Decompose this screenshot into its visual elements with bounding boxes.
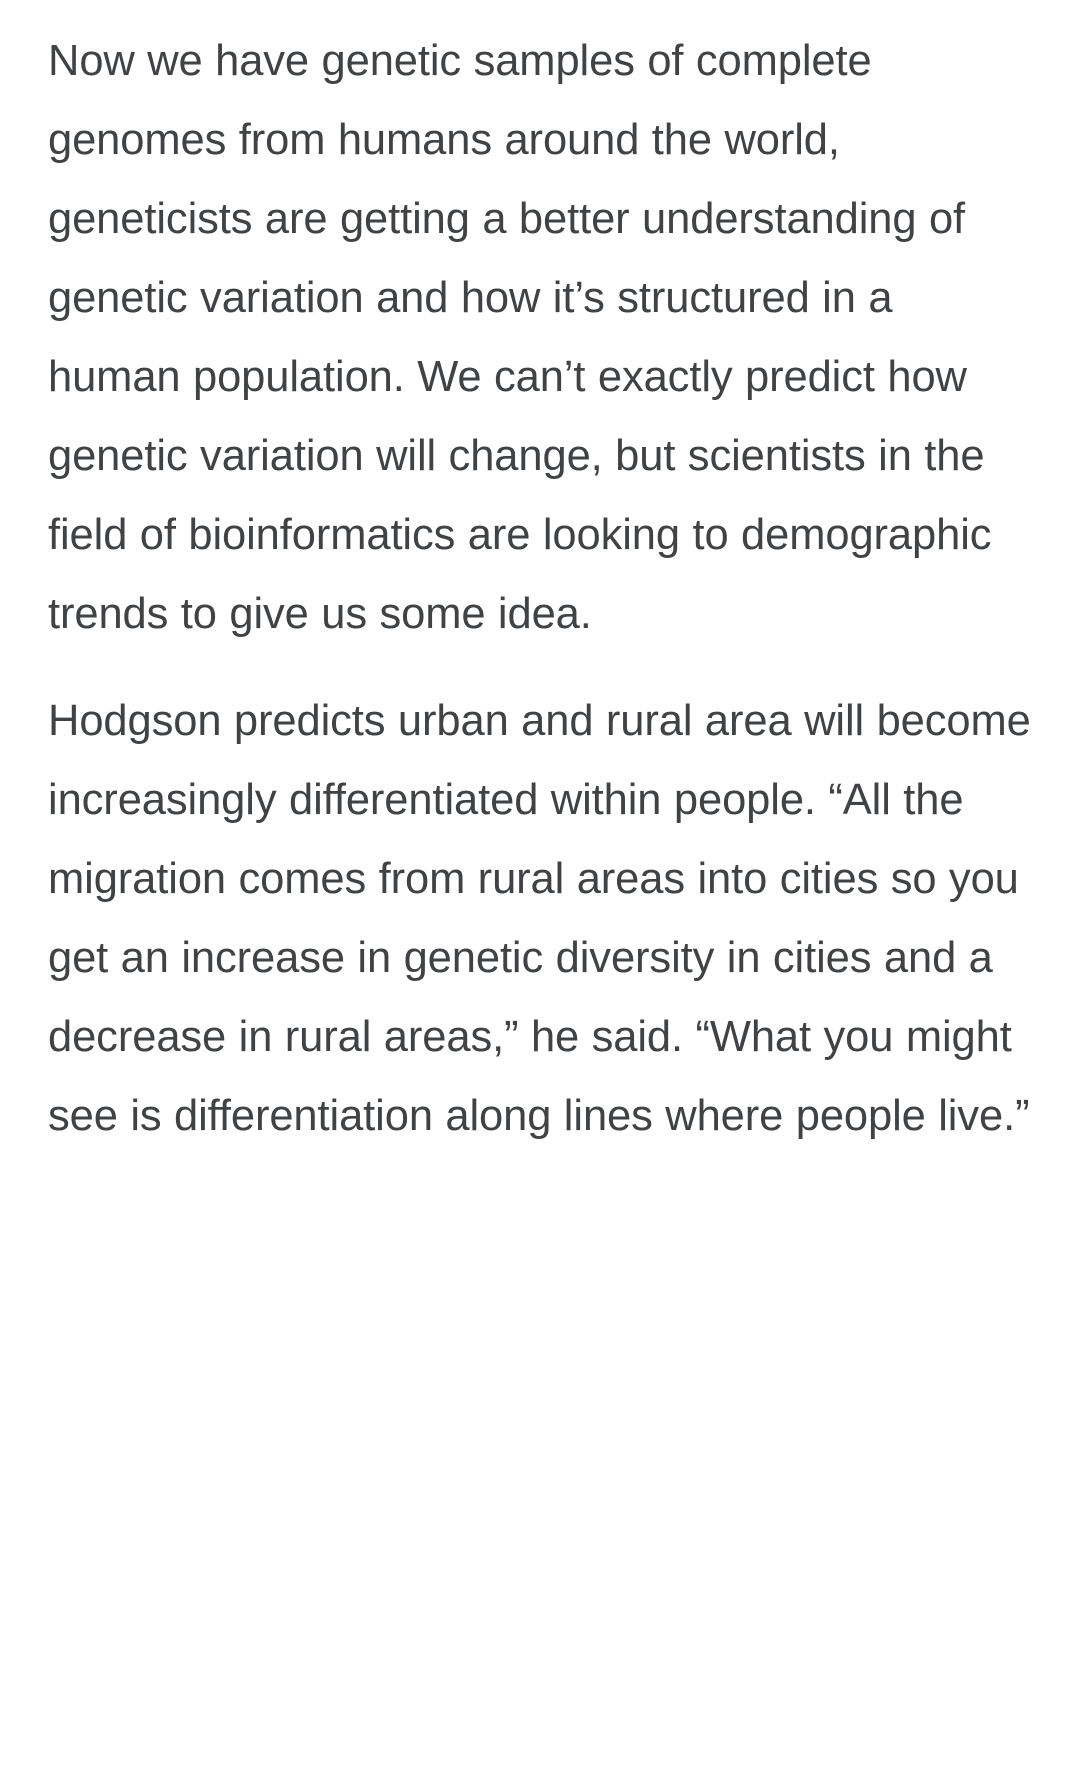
article-paragraph-1: Now we have genetic samples of complete … (48, 0, 1032, 654)
article-body: Now we have genetic samples of complete … (0, 0, 1080, 1788)
article-paragraph-2: Hodgson predicts urban and rural area wi… (48, 654, 1032, 1156)
